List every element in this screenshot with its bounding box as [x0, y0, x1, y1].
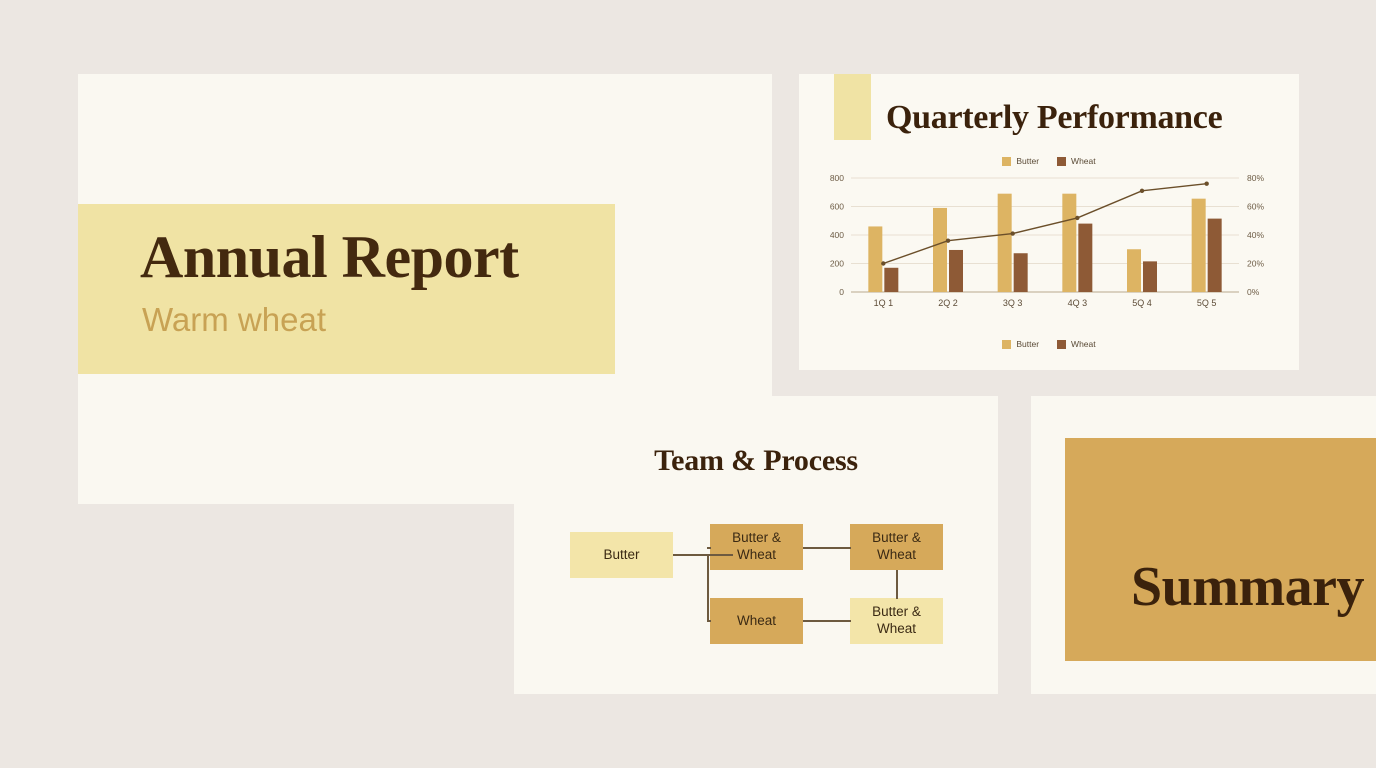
bar-wheat[interactable]	[884, 268, 898, 292]
bar-butter[interactable]	[1127, 249, 1141, 292]
flow-node-label: Wheat	[737, 547, 776, 562]
trend-point[interactable]	[1140, 189, 1144, 193]
y-axis-left-tick: 400	[830, 230, 844, 240]
team-process-title: Team & Process	[514, 444, 998, 478]
summary-title: Summary	[1131, 555, 1364, 619]
y-axis-left-tick: 600	[830, 202, 844, 212]
y-axis-left-tick: 800	[830, 173, 844, 183]
bar-butter[interactable]	[998, 194, 1012, 292]
bar-wheat[interactable]	[949, 250, 963, 292]
legend-label: Wheat	[1071, 339, 1096, 349]
title-accent-band: Annual Report Warm wheat	[78, 204, 615, 374]
flow-connector	[803, 620, 851, 622]
bar-butter[interactable]	[868, 226, 882, 292]
x-axis-tick: 1Q 1	[874, 298, 894, 308]
flow-node[interactable]: Wheat	[710, 598, 803, 644]
legend-swatch-icon	[1002, 340, 1011, 349]
flow-node-text: Butter &Wheat	[732, 530, 781, 564]
flow-connector	[896, 570, 898, 599]
page-title: Annual Report	[140, 226, 519, 289]
flow-node-label: Butter &	[872, 530, 921, 545]
flow-connector	[803, 547, 851, 549]
process-flow-diagram: ButterButter &WheatButter &WheatWheatBut…	[514, 524, 998, 664]
slide-quarterly-performance[interactable]: Quarterly Performance ButterWheat 020040…	[799, 74, 1299, 370]
flow-connector	[707, 554, 709, 621]
bar-wheat[interactable]	[1014, 253, 1028, 292]
page-subtitle: Warm wheat	[142, 301, 326, 339]
trend-point[interactable]	[1010, 231, 1014, 235]
y-axis-right-tick: 60%	[1247, 202, 1264, 212]
legend-swatch-icon	[1002, 157, 1011, 166]
legend-label: Wheat	[1071, 156, 1096, 166]
y-axis-left-tick: 200	[830, 259, 844, 269]
flow-node-text: Butter &Wheat	[872, 530, 921, 564]
chart-canvas: 02004006008000%20%40%60%80%1Q 12Q 23Q 34…	[799, 170, 1299, 320]
flow-connector	[707, 620, 711, 622]
bar-butter[interactable]	[933, 208, 947, 292]
x-axis-tick: 3Q 3	[1003, 298, 1023, 308]
flow-node[interactable]: Butter	[570, 532, 673, 578]
flow-connector	[707, 547, 711, 549]
x-axis-tick: 5Q 4	[1132, 298, 1152, 308]
flow-node-label: Wheat	[877, 547, 916, 562]
flow-node-label: Wheat	[877, 621, 916, 636]
flow-connector	[673, 554, 708, 556]
bar-butter[interactable]	[1192, 199, 1206, 292]
deck-canvas: Annual Report Warm wheat Quarterly Perfo…	[0, 0, 1376, 768]
chart-legend-top: ButterWheat	[799, 156, 1299, 166]
legend-item-wheat[interactable]: Wheat	[1057, 156, 1096, 166]
x-axis-tick: 2Q 2	[938, 298, 958, 308]
trend-point[interactable]	[946, 239, 950, 243]
trend-point[interactable]	[881, 261, 885, 265]
legend-swatch-icon	[1057, 340, 1066, 349]
trend-line	[883, 184, 1206, 264]
trend-point[interactable]	[1204, 182, 1208, 186]
legend-item-butter[interactable]: Butter	[1002, 156, 1039, 166]
flow-node-text: Wheat	[737, 613, 776, 630]
bar-wheat[interactable]	[1208, 219, 1222, 292]
bar-wheat[interactable]	[1143, 261, 1157, 292]
legend-item-wheat[interactable]: Wheat	[1057, 339, 1096, 349]
flow-node-text: Butter	[603, 547, 639, 564]
bar-butter[interactable]	[1062, 194, 1076, 292]
flow-node[interactable]: Butter &Wheat	[710, 524, 803, 570]
flow-node-text: Butter &Wheat	[872, 604, 921, 638]
legend-item-butter[interactable]: Butter	[1002, 339, 1039, 349]
legend-label: Butter	[1016, 339, 1039, 349]
y-axis-right-tick: 20%	[1247, 259, 1264, 269]
flow-node-label: Butter &	[732, 530, 781, 545]
x-axis-tick: 4Q 3	[1068, 298, 1088, 308]
summary-accent-band: Summary	[1065, 438, 1376, 661]
bar-wheat[interactable]	[1078, 224, 1092, 292]
y-axis-left-tick: 0	[839, 287, 844, 297]
flow-node-label: Wheat	[737, 613, 776, 628]
y-axis-right-tick: 40%	[1247, 230, 1264, 240]
y-axis-right-tick: 0%	[1247, 287, 1260, 297]
chart-legend-bottom: ButterWheat	[799, 339, 1299, 349]
flow-node[interactable]: Butter &Wheat	[850, 524, 943, 570]
slide-team-process[interactable]: Team & Process ButterButter &WheatButter…	[514, 396, 998, 694]
flow-node[interactable]: Butter &Wheat	[850, 598, 943, 644]
legend-swatch-icon	[1057, 157, 1066, 166]
flow-node-label: Butter	[603, 547, 639, 562]
x-axis-tick: 5Q 5	[1197, 298, 1217, 308]
flow-node-label: Butter &	[872, 604, 921, 619]
chart-title: Quarterly Performance	[886, 99, 1222, 137]
y-axis-right-tick: 80%	[1247, 173, 1264, 183]
legend-label: Butter	[1016, 156, 1039, 166]
chart-accent-tab	[834, 74, 871, 140]
slide-summary[interactable]: Summary	[1031, 396, 1376, 694]
chart-plot-area: 02004006008000%20%40%60%80%1Q 12Q 23Q 34…	[799, 170, 1299, 320]
trend-point[interactable]	[1075, 216, 1079, 220]
